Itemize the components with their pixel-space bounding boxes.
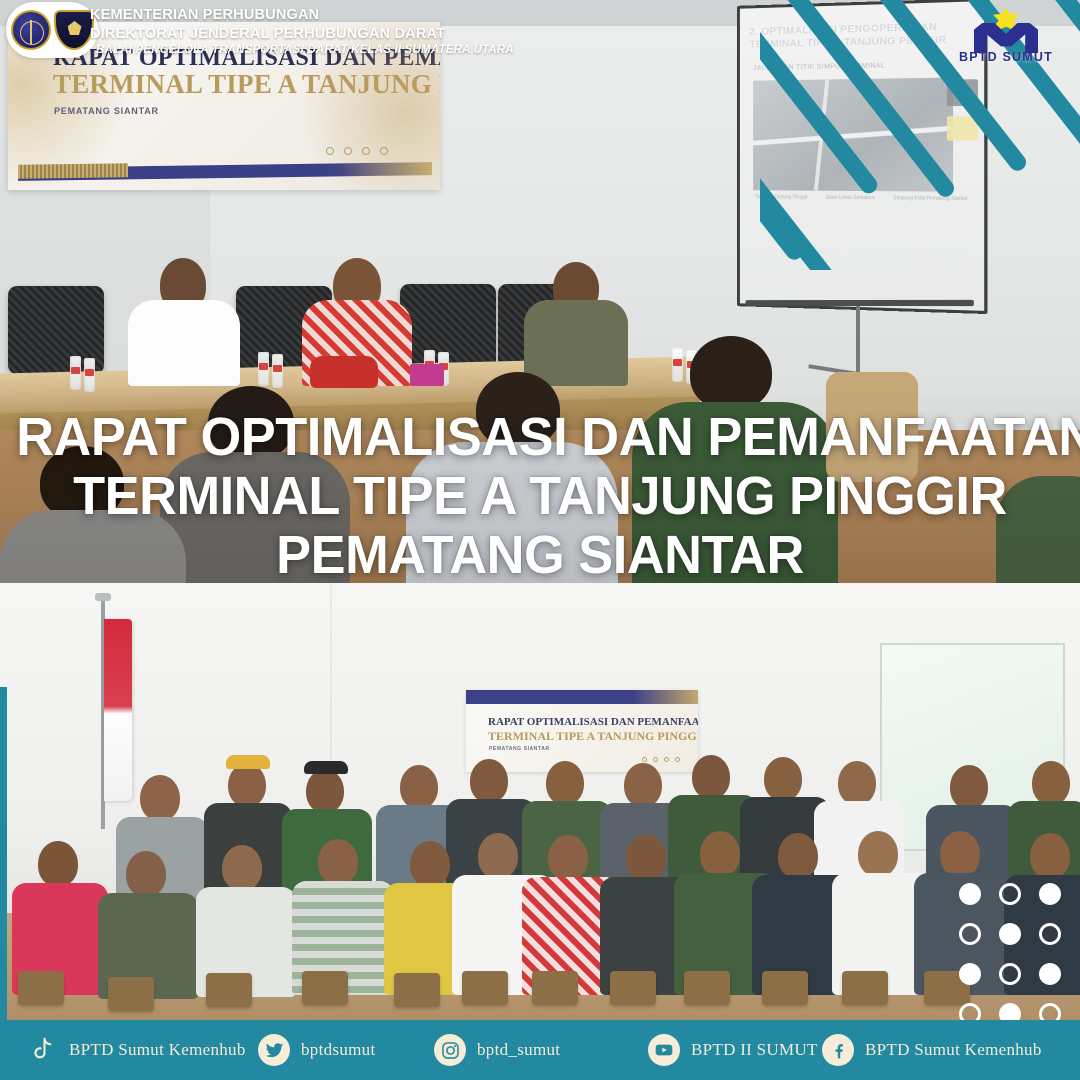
slide-map-image <box>753 78 953 192</box>
participant-head <box>126 851 166 897</box>
participant-head <box>318 839 358 885</box>
headline-line2: TERMINAL TIPE A TANJUNG PINGGIR <box>16 467 1064 526</box>
social-twitter-handle: bptdsumut <box>301 1040 376 1060</box>
participant-head <box>700 831 740 877</box>
slide-note-box <box>947 116 978 141</box>
dot <box>959 963 981 985</box>
backdrop-banner-footer-pattern <box>18 163 128 179</box>
kemenhub-globe-emblem-icon <box>11 10 51 50</box>
header-text-block: KEMENTERIAN PERHUBUNGAN DIREKTORAT JENDE… <box>90 6 514 58</box>
social-instagram-handle: bptd_sumut <box>477 1040 560 1060</box>
participant-head <box>858 831 898 877</box>
hall-banner-line3: PEMATANG SIANTAR <box>489 746 550 752</box>
participant-head <box>950 765 988 809</box>
poster-header: KEMENTERIAN PERHUBUNGAN DIREKTORAT JENDE… <box>0 0 1080 62</box>
social-youtube-handle: BPTD II SUMUT <box>691 1040 818 1060</box>
header-line2: DIREKTORAT JENDERAL PERHUBUNGAN DARAT <box>90 25 514 44</box>
backdrop-banner-line3: PEMATANG SIANTAR <box>54 106 159 116</box>
bptd-logo-m-icon <box>974 23 1038 53</box>
slide-legend-item: Jalan Lintas Sumatera <box>826 195 875 201</box>
participant-head <box>38 841 78 887</box>
social-facebook[interactable]: BPTD Sumut Kemenhub <box>822 1034 1042 1066</box>
chair <box>532 971 578 1005</box>
headline-line3: PEMATANG SIANTAR <box>16 526 1064 585</box>
hall-banner-line2: TERMINAL TIPE A TANJUNG PINGGIR <box>488 729 694 744</box>
chair <box>842 971 888 1005</box>
header-emblems <box>6 2 98 58</box>
poster-headline: RAPAT OPTIMALISASI DAN PEMANFAATAN TERMI… <box>16 408 1064 585</box>
water-bottle <box>258 352 269 386</box>
hall-banner-dots <box>642 757 680 762</box>
cap <box>226 755 270 769</box>
participant-head <box>778 833 818 879</box>
facebook-icon <box>822 1034 854 1066</box>
bptd-sumut-logo: BPTD SUMUT <box>958 8 1054 70</box>
dot <box>959 883 981 905</box>
participant-head <box>400 765 438 809</box>
chair <box>302 971 348 1005</box>
slide-callout-box <box>947 79 978 106</box>
dot <box>1039 963 1061 985</box>
cap <box>304 761 348 774</box>
dot <box>999 883 1021 905</box>
bptd-logo-text: BPTD SUMUT <box>958 50 1054 64</box>
social-facebook-handle: BPTD Sumut Kemenhub <box>865 1040 1042 1060</box>
chair <box>206 973 252 1007</box>
left-teal-stripe <box>0 687 7 1020</box>
participant-head <box>140 775 180 821</box>
participant-head <box>470 759 508 803</box>
social-instagram[interactable]: bptd_sumut <box>434 1034 560 1066</box>
speaker-body <box>128 300 240 386</box>
dot <box>1039 923 1061 945</box>
slide-subtitle: JALUR DAN TITIK SIMPUL TERMINAL <box>753 63 885 72</box>
slide-legend-item: Terminal Tanjung Pinggir <box>755 194 808 200</box>
kemenhub-shield-emblem-icon <box>54 10 94 50</box>
hall-banner-header-bar <box>466 690 698 704</box>
participant-head <box>222 845 262 891</box>
instagram-icon <box>434 1034 466 1066</box>
participant-head <box>838 761 876 805</box>
flag-pole-finial <box>95 593 111 601</box>
chair <box>394 973 440 1007</box>
participant-head <box>1032 761 1070 805</box>
police-officer-body <box>524 300 628 386</box>
participant-head <box>940 831 980 877</box>
water-bottle <box>672 348 683 382</box>
slide-legend-item: Simpang Kota Pematang Siantar <box>893 195 967 202</box>
header-line3: BALAI PENGELOLA TRANSPORTASI DARAT KELAS… <box>90 43 514 58</box>
dot <box>999 963 1021 985</box>
social-footer-bar: BPTD Sumut Kemenhub bptdsumut bptd_sumut <box>0 1020 1080 1080</box>
social-twitter[interactable]: bptdsumut <box>258 1034 376 1066</box>
participant-head <box>764 757 802 801</box>
chair <box>462 971 508 1005</box>
chair <box>762 971 808 1005</box>
participant-head <box>624 763 662 807</box>
slide-legend: Terminal Tanjung Pinggir Jalan Lintas Su… <box>755 194 968 202</box>
participant-head <box>1030 833 1070 879</box>
tiktok-icon <box>26 1034 58 1066</box>
participant-head <box>478 833 518 879</box>
header-line1: KEMENTERIAN PERHUBUNGAN <box>90 6 514 25</box>
dot <box>1039 883 1061 905</box>
hall-banner-line1: RAPAT OPTIMALISASI DAN PEMANFAATAN <box>488 716 692 728</box>
participant-head <box>548 835 588 881</box>
participant-head <box>306 769 344 813</box>
chair <box>610 971 656 1005</box>
chair <box>684 971 730 1005</box>
dot <box>959 923 981 945</box>
youtube-icon <box>648 1034 680 1066</box>
backdrop-banner-dots <box>326 147 388 155</box>
social-tiktok[interactable]: BPTD Sumut Kemenhub <box>26 1034 246 1066</box>
chair <box>18 971 64 1005</box>
participant-head <box>692 755 730 799</box>
participant-head <box>626 835 666 881</box>
participant-head <box>228 763 266 807</box>
twitter-icon <box>258 1034 290 1066</box>
indonesian-flag <box>104 619 132 801</box>
backdrop-banner-line2: TERMINAL TIPE A TANJUNG PINGGIR <box>53 70 432 98</box>
participant-head <box>410 841 450 887</box>
dot <box>999 923 1021 945</box>
bottom-group-photo: RAPAT OPTIMALISASI DAN PEMANFAATAN TERMI… <box>0 583 1080 1020</box>
headline-line1: RAPAT OPTIMALISASI DAN PEMANFAATAN <box>16 408 1064 467</box>
social-youtube[interactable]: BPTD II SUMUT <box>648 1034 818 1066</box>
bptd-logo-mark-icon <box>958 8 1054 52</box>
hall-backdrop-banner: RAPAT OPTIMALISASI DAN PEMANFAATAN TERMI… <box>466 690 698 772</box>
chair <box>108 977 154 1011</box>
participant-head <box>546 761 584 805</box>
social-tiktok-handle: BPTD Sumut Kemenhub <box>69 1040 246 1060</box>
social-media-poster: RAPAT OPTIMALISASI DAN PEMANFAATAN TERMI… <box>0 0 1080 1080</box>
